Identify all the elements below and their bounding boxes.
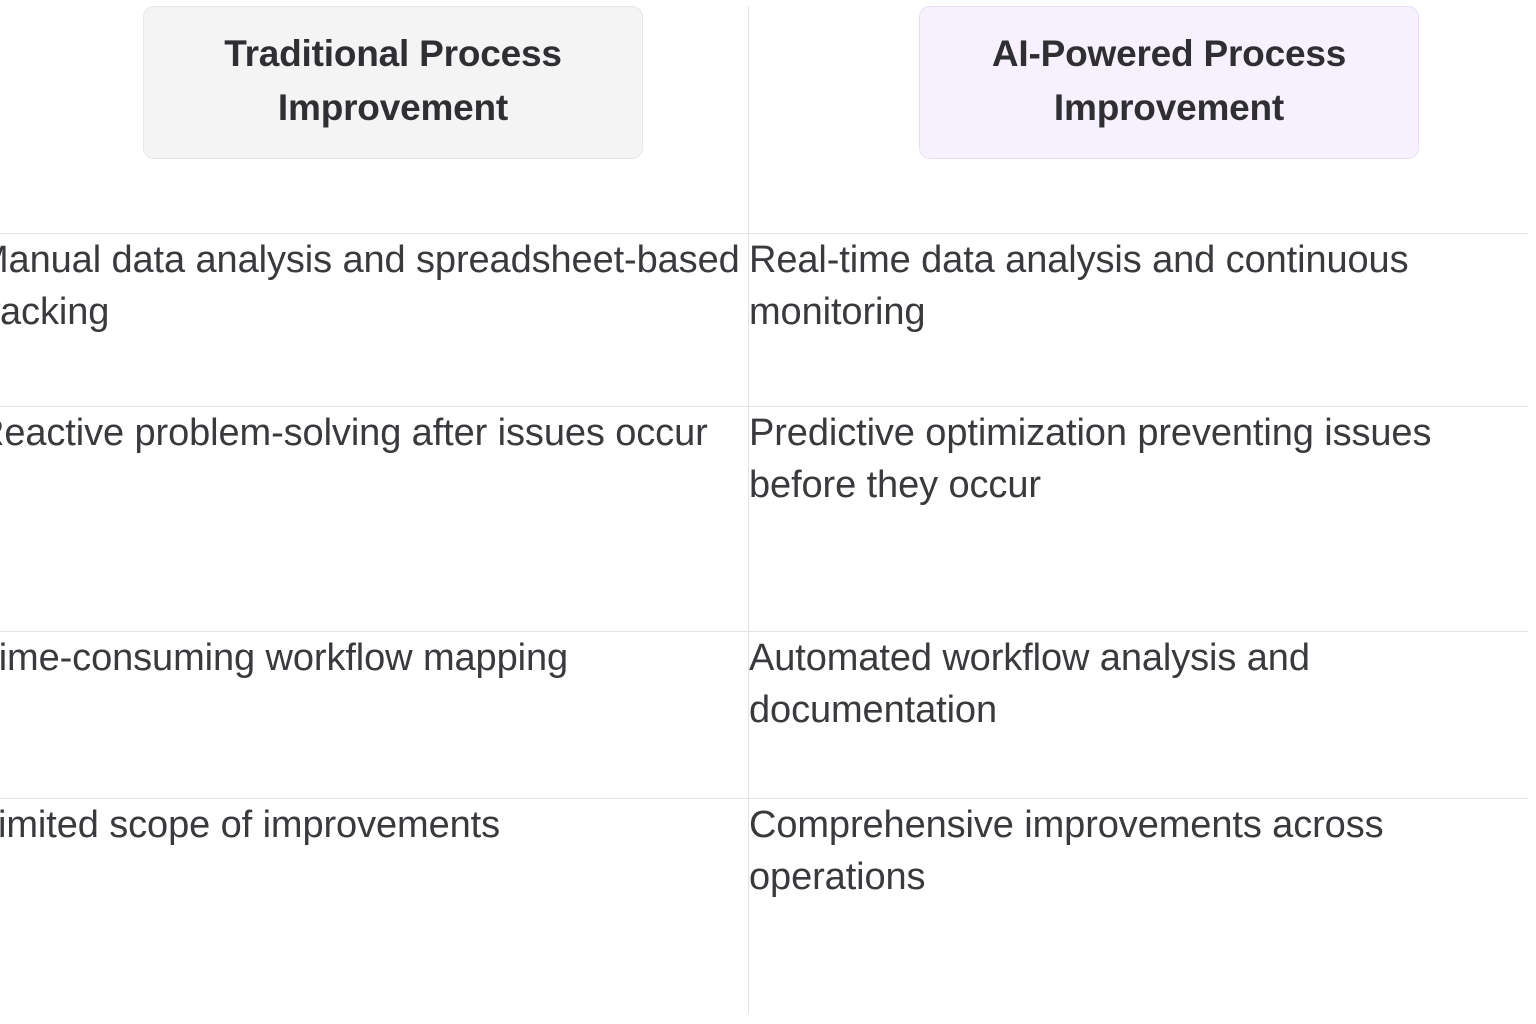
cell-text: Real-time data analysis and continuous m…: [749, 234, 1528, 338]
cell-ai-3: Automated workflow analysis and document…: [749, 632, 1529, 799]
cell-text: Comprehensive improvements across operat…: [749, 799, 1528, 903]
cell-text: Predictive optimization preventing issue…: [749, 407, 1528, 511]
table-row: Manual data analysis and spreadsheet-bas…: [0, 234, 1529, 407]
table-row: Time-consuming workflow mapping Automate…: [0, 632, 1529, 799]
header-cell-traditional: Traditional Process Improvement: [0, 6, 749, 234]
cell-text: Limited scope of improvements: [0, 799, 748, 851]
cell-ai-2: Predictive optimization preventing issue…: [749, 407, 1529, 632]
header-cell-ai: AI-Powered Process Improvement: [749, 6, 1529, 234]
table-row: Reactive problem-solving after issues oc…: [0, 407, 1529, 632]
cell-traditional-2: Reactive problem-solving after issues oc…: [0, 407, 749, 632]
comparison-table-container: Traditional Process Improvement AI-Power…: [0, 5, 1528, 1013]
comparison-table: Traditional Process Improvement AI-Power…: [0, 5, 1529, 1014]
header-cell-ai-inner: AI-Powered Process Improvement: [749, 6, 1528, 159]
cell-ai-4: Comprehensive improvements across operat…: [749, 799, 1529, 1014]
cell-text: Time-consuming workflow mapping: [0, 632, 748, 684]
cell-traditional-1: Manual data analysis and spreadsheet-bas…: [0, 234, 749, 407]
table-header: Traditional Process Improvement AI-Power…: [0, 6, 1529, 234]
cell-text: Automated workflow analysis and document…: [749, 632, 1528, 736]
cell-ai-1: Real-time data analysis and continuous m…: [749, 234, 1529, 407]
cell-text: Reactive problem-solving after issues oc…: [0, 407, 748, 459]
cell-traditional-4: Limited scope of improvements: [0, 799, 749, 1014]
header-cell-traditional-inner: Traditional Process Improvement: [0, 6, 748, 159]
header-row: Traditional Process Improvement AI-Power…: [0, 6, 1529, 234]
badge-ai-powered-process-improvement: AI-Powered Process Improvement: [919, 6, 1419, 159]
cell-text: Manual data analysis and spreadsheet-bas…: [0, 234, 748, 338]
cell-traditional-3: Time-consuming workflow mapping: [0, 632, 749, 799]
table-body: Manual data analysis and spreadsheet-bas…: [0, 234, 1529, 1014]
table-row: Limited scope of improvements Comprehens…: [0, 799, 1529, 1014]
badge-traditional-process-improvement: Traditional Process Improvement: [143, 6, 643, 159]
